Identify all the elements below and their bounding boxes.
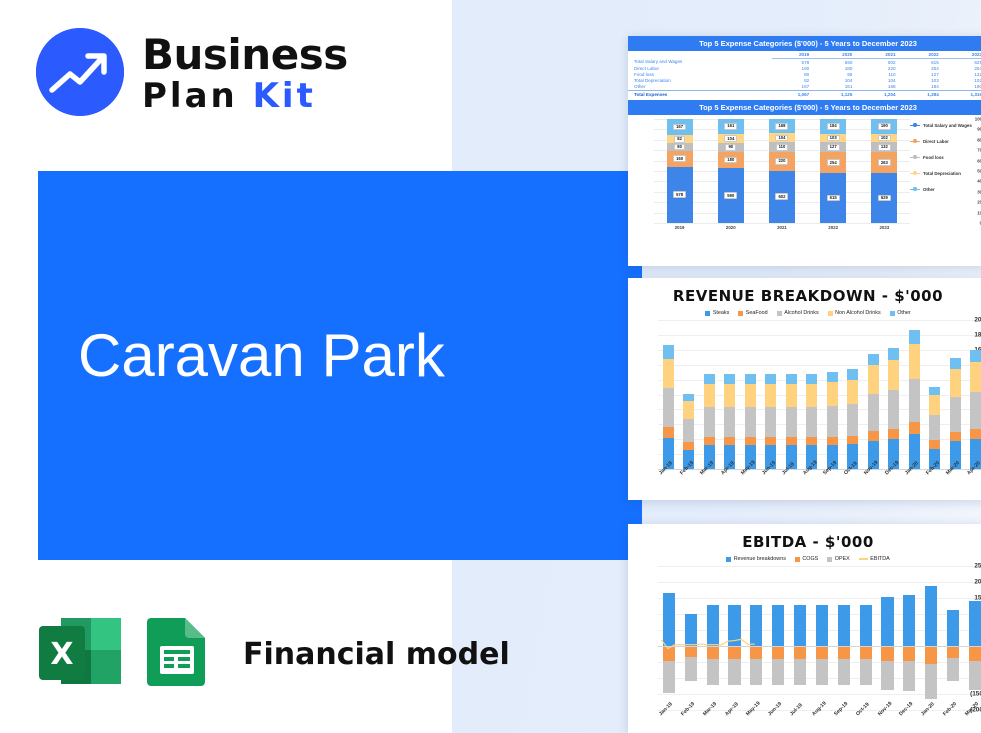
bar-segment — [868, 394, 879, 431]
table-cell: 184 — [902, 84, 945, 91]
revenue-breakdown-card: REVENUE BREAKDOWN - $'000 SteaksSeaFoodA… — [628, 278, 981, 500]
gridline — [654, 223, 910, 224]
bar-segment — [685, 657, 697, 681]
bar-segment — [881, 597, 893, 646]
bar-stack — [765, 374, 776, 469]
page-title: Caravan Park — [78, 321, 445, 390]
bar-segment — [970, 429, 981, 439]
x-axis-labels: 20192020202120222023 — [654, 225, 910, 230]
row-label: Total Expenses — [628, 90, 772, 97]
table-col-2023: 2023 — [945, 51, 981, 59]
bar-segment — [704, 384, 715, 407]
y-axis-tick: 100% — [975, 116, 981, 121]
bar-segment — [663, 388, 674, 427]
legend-item: EBITDA — [859, 556, 890, 562]
format-label: Financial model — [243, 637, 510, 672]
bar-segment — [827, 437, 838, 445]
bar-column — [964, 566, 981, 710]
table-cell: 590 — [815, 59, 858, 66]
bar-segment — [683, 401, 694, 419]
bar-column — [855, 566, 877, 710]
expense-table-band-title: Top 5 Expense Categories ($'000) - 5 Yea… — [628, 36, 981, 51]
bar-segment — [925, 664, 937, 699]
bar-segment: 254 — [820, 152, 846, 173]
bar-stack — [704, 374, 715, 469]
expense-chart-band-title: Top 5 Expense Categories ($'000) - 5 Yea… — [628, 100, 981, 115]
bar-segment — [765, 437, 776, 445]
bar-segment — [786, 437, 797, 445]
table-row: Other167161168184190 — [628, 84, 981, 91]
bar-column — [720, 320, 741, 469]
legend-label: OPEX — [835, 556, 850, 562]
bar-value-label: 127 — [827, 144, 840, 151]
bar-segment — [765, 374, 776, 384]
legend-swatch — [705, 311, 710, 316]
bar-column — [702, 566, 724, 710]
bar-column: 1678280160578 — [667, 119, 693, 223]
table-col-label — [628, 51, 772, 59]
bar-segment — [683, 442, 694, 450]
table-col-2020: 2020 — [815, 51, 858, 59]
x-axis-tick: 2023 — [871, 225, 897, 230]
legend-swatch — [738, 311, 743, 316]
bar-stack — [950, 358, 961, 469]
x-axis-labels: Jan-19Feb-19Mar-19Apr-19May-19Jun-19Jul-… — [658, 472, 981, 478]
bar-segment: 167 — [667, 119, 693, 135]
bar-segment — [881, 661, 893, 690]
bar-segment — [794, 659, 806, 685]
bar-column — [904, 320, 925, 469]
axis-line — [658, 646, 981, 647]
bar-segment — [806, 384, 817, 407]
bar-segment: 90 — [718, 143, 744, 151]
legend-item: SeaFood — [738, 310, 767, 316]
microsoft-excel-icon: X — [37, 616, 123, 693]
bar-stack — [909, 330, 920, 469]
bar-segment: 590 — [718, 168, 744, 223]
brand-name-line1: Business — [142, 34, 348, 76]
legend-label: Revenue breakdowns — [734, 556, 786, 562]
format-badges: X Financial model — [37, 616, 510, 693]
bar-segment — [806, 374, 817, 384]
bar-segment: 132 — [871, 142, 897, 152]
legend-label: Total Depreciation — [923, 171, 961, 176]
bar-segment — [838, 605, 850, 646]
table-row: Total Salary and Wages578590602615629 — [628, 59, 981, 66]
growth-arrow-icon — [36, 28, 124, 116]
bar-stack — [806, 374, 817, 469]
bar-value-label: 184 — [827, 123, 840, 130]
bar-value-label: 578 — [673, 191, 686, 198]
bar-segment — [929, 387, 940, 395]
bar-segment — [786, 407, 797, 437]
bar-segment — [724, 384, 735, 407]
legend-swatch — [890, 311, 895, 316]
table-cell: 629 — [945, 59, 981, 66]
bar-segment: 110 — [769, 142, 795, 152]
bar-value-label: 90 — [725, 144, 736, 151]
bar-segment: 103 — [820, 134, 846, 142]
bar-column — [884, 320, 905, 469]
bar-value-label: 190 — [878, 123, 891, 130]
table-col-2021: 2021 — [858, 51, 901, 59]
bar-column — [877, 566, 899, 710]
bar-segment — [947, 646, 959, 658]
bar-segment — [838, 646, 850, 659]
bar-segment — [868, 354, 879, 365]
legend-item: Direct Labor — [910, 139, 981, 144]
bar-segment — [950, 369, 961, 397]
bar-segment — [950, 432, 961, 442]
table-cell: 602 — [858, 59, 901, 66]
bar-segment — [707, 659, 719, 685]
bar-segment — [786, 374, 797, 384]
bar-stack — [847, 369, 858, 469]
bar-stack — [745, 374, 756, 469]
table-cell: 1,125 — [815, 90, 858, 97]
bar-column: 190102132263629 — [871, 119, 897, 223]
bar-segment — [816, 659, 828, 685]
bar-segment — [847, 436, 858, 444]
bar-value-label: 615 — [827, 195, 840, 202]
table-header-row: 20192020202120222023 — [628, 51, 981, 59]
bar-value-label: 110 — [776, 144, 789, 151]
bar-value-label: 180 — [724, 157, 737, 164]
bar-segment — [704, 437, 715, 445]
bar-segment — [970, 392, 981, 429]
bar-column — [942, 566, 964, 710]
bar-value-label: 160 — [673, 155, 686, 162]
brand-logo: Business Plan Kit — [36, 28, 348, 116]
brand-name-line2: Plan Kit — [142, 79, 348, 113]
bar-stack — [868, 354, 879, 469]
bar-stack — [663, 345, 674, 469]
bar-segment — [685, 614, 697, 646]
legend-label: Non Alcohol Drinks — [835, 310, 881, 316]
bar-segment — [947, 610, 959, 646]
table-total-row: Total Expenses1,0671,1251,2041,2841,316 — [628, 90, 981, 97]
bar-segment — [969, 646, 981, 661]
bar-column: 16110490180590 — [718, 119, 744, 223]
bar-value-label: 168 — [775, 123, 788, 130]
bar-segment — [707, 605, 719, 646]
expense-categories-card: Top 5 Expense Categories ($'000) - 5 Yea… — [628, 36, 981, 266]
bar-segment: 102 — [871, 134, 897, 142]
bar-segment: 127 — [820, 142, 846, 152]
bar-value-label: 590 — [724, 192, 737, 199]
bar-column — [680, 566, 702, 710]
legend-swatch — [726, 557, 731, 562]
row-label: Other — [628, 84, 772, 91]
bar-segment: 629 — [871, 173, 897, 223]
brand-plan-text: Plan — [142, 76, 238, 116]
bar-value-label: 263 — [878, 159, 891, 166]
bar-column: 168104110220602 — [769, 119, 795, 223]
table-cell: 161 — [815, 84, 858, 91]
svg-text:X: X — [50, 637, 73, 672]
plot-area: 1678280160578161104901805901681041102206… — [654, 119, 910, 223]
bar-segment — [868, 365, 879, 393]
legend-label: Steaks — [713, 310, 729, 316]
bar-segment — [816, 605, 828, 646]
bar-segment — [724, 374, 735, 384]
bar-segment — [950, 397, 961, 432]
bar-segment — [909, 379, 920, 422]
legend-item: Alcohol Drinks — [777, 310, 819, 316]
bar-value-label: 104 — [724, 135, 737, 142]
bar-segment — [772, 605, 784, 646]
bar-column — [898, 566, 920, 710]
legend-label: COGS — [802, 556, 818, 562]
legend-label: Alcohol Drinks — [784, 310, 818, 316]
legend-item: Total Depreciation — [910, 171, 981, 176]
bar-segment: 220 — [769, 152, 795, 171]
bar-segment: 168 — [769, 119, 795, 134]
table-cell: 615 — [902, 59, 945, 66]
bar-segment — [663, 345, 674, 358]
bar-segment: 104 — [769, 133, 795, 142]
legend-swatch — [828, 311, 833, 316]
bar-segment — [860, 646, 872, 659]
bar-segment — [969, 601, 981, 646]
bar-segment: 578 — [667, 167, 693, 223]
bar-segment — [806, 437, 817, 445]
bar-value-label: 80 — [674, 144, 685, 151]
revenue-chart-legend: SteaksSeaFoodAlcohol DrinksNon Alcohol D… — [628, 310, 981, 316]
legend-swatch — [910, 141, 920, 143]
bar-segment — [827, 406, 838, 437]
bar-segment — [925, 586, 937, 646]
row-label: Total Salary and Wages — [628, 59, 772, 66]
bar-segment — [786, 384, 797, 407]
bar-segment: 104 — [718, 134, 744, 144]
bar-column — [767, 566, 789, 710]
bar-segment — [750, 646, 762, 659]
plot-area — [658, 320, 981, 469]
bar-segment — [860, 605, 872, 646]
bar-segment — [909, 330, 920, 344]
bar-value-label: 220 — [775, 158, 788, 165]
bar-segment — [806, 407, 817, 437]
bar-stack — [724, 374, 735, 469]
bar-segment — [728, 605, 740, 646]
bar-segment — [704, 407, 715, 437]
table-cell: 190 — [945, 84, 981, 91]
bar-segment — [728, 659, 740, 685]
bar-segment: 190 — [871, 119, 897, 134]
bar-segment — [970, 350, 981, 362]
x-axis-labels: Jan-19Feb-19Mar-19Apr-19May-19Jun-19Jul-… — [658, 713, 981, 719]
bar-segment: 615 — [820, 173, 846, 223]
bar-segment: 160 — [667, 151, 693, 167]
bar-value-label: 102 — [878, 135, 891, 142]
bar-column — [945, 320, 966, 469]
bar-column — [761, 320, 782, 469]
bar-segment — [929, 440, 940, 449]
bar-column — [863, 320, 884, 469]
legend-swatch — [910, 173, 920, 175]
legend-swatch — [795, 557, 800, 562]
bar-segment — [909, 344, 920, 379]
table-cell: 1,204 — [858, 90, 901, 97]
bar-segment — [847, 404, 858, 436]
bar-value-label: 103 — [827, 135, 840, 142]
bar-segment — [728, 646, 740, 659]
bar-segment — [772, 659, 784, 685]
bar-segment: 161 — [718, 119, 744, 134]
bar-segment — [765, 384, 776, 407]
bar-segment — [868, 431, 879, 441]
bar-segment: 184 — [820, 119, 846, 134]
bar-column — [925, 320, 946, 469]
ebitda-chart-title: EBITDA - $'000 — [628, 533, 981, 551]
bar-column — [966, 320, 981, 469]
table-cell: 1,316 — [945, 90, 981, 97]
bar-segment — [772, 646, 784, 659]
bar-segment — [794, 646, 806, 659]
bar-stack — [827, 372, 838, 469]
bar-segment — [950, 358, 961, 369]
bar-segment — [929, 415, 940, 440]
bar-segment — [745, 384, 756, 407]
bar-segment — [663, 593, 675, 646]
bar-segment — [881, 646, 893, 661]
bar-column — [781, 320, 802, 469]
bar-column — [811, 566, 833, 710]
bar-column — [789, 566, 811, 710]
bar-segment: 80 — [667, 143, 693, 151]
bar-segment: 180 — [718, 152, 744, 169]
bar-column — [833, 566, 855, 710]
legend-label: Other — [897, 310, 910, 316]
bar-value-label: 82 — [674, 136, 685, 143]
legend-item: Other — [910, 187, 981, 192]
legend-label: Food loss — [923, 155, 944, 160]
table-col-2022: 2022 — [902, 51, 945, 59]
bar-column — [843, 320, 864, 469]
bar-column: 184103127254615 — [820, 119, 846, 223]
bar-segment — [750, 605, 762, 646]
legend-label: Other — [923, 187, 935, 192]
bar-segment — [903, 661, 915, 691]
revenue-chart-title: REVENUE BREAKDOWN - $'000 — [628, 287, 981, 305]
bar-segment — [745, 407, 756, 437]
bar-column — [724, 566, 746, 710]
bar-segment — [888, 429, 899, 439]
x-axis-tick: 2020 — [718, 225, 744, 230]
legend-item: Steaks — [705, 310, 729, 316]
bar-segment — [816, 646, 828, 659]
bar-segment — [794, 605, 806, 646]
bar-segment — [663, 359, 674, 388]
bar-segment — [707, 646, 719, 659]
bar-segment — [663, 661, 675, 693]
bar-segment — [970, 362, 981, 392]
bar-segment — [663, 427, 674, 439]
bar-segment — [860, 659, 872, 685]
expense-table: 20192020202120222023 Total Salary and Wa… — [628, 51, 981, 98]
bar-segment: 602 — [769, 171, 795, 223]
y-axis-tick: 10% — [977, 210, 981, 215]
hero-block: Caravan Park — [38, 171, 642, 560]
bar-segment: 82 — [667, 135, 693, 143]
plot-area — [658, 566, 981, 710]
revenue-chart-plot: 20018016014012010080604020-Jan-19Feb-19M… — [628, 320, 981, 495]
brand-kit-text: Kit — [253, 76, 316, 116]
bar-segment — [724, 407, 735, 437]
bar-column — [699, 320, 720, 469]
legend-swatch — [910, 125, 920, 127]
legend-swatch — [910, 157, 920, 159]
bar-segment — [745, 374, 756, 384]
legend-swatch — [910, 189, 920, 191]
bar-segment — [704, 374, 715, 384]
bar-segment — [847, 369, 858, 379]
bar-segment — [683, 394, 694, 401]
bar-segment — [909, 422, 920, 434]
bar-segment — [724, 437, 735, 445]
legend-swatch — [777, 311, 782, 316]
bar-segment — [888, 348, 899, 360]
legend-swatch — [827, 557, 832, 562]
table-cell: 168 — [858, 84, 901, 91]
legend-item: Revenue breakdowns — [726, 556, 786, 562]
expense-stacked-percent-chart: 100%90%80%70%60%50%40%30%20%10%0%1678280… — [628, 115, 981, 237]
legend-item: OPEX — [827, 556, 849, 562]
bar-segment — [685, 646, 697, 657]
legend-item: Total Salary and Wages — [910, 123, 981, 128]
bar-column — [745, 566, 767, 710]
legend-swatch — [859, 558, 868, 560]
bar-segment — [903, 595, 915, 646]
bar-segment — [888, 360, 899, 390]
table-cell: 1,067 — [772, 90, 815, 97]
bar-segment — [750, 659, 762, 685]
table-col-2019: 2019 — [772, 51, 815, 59]
bar-value-label: 132 — [878, 144, 891, 151]
x-axis-tick: 2022 — [820, 225, 846, 230]
legend-item: Food loss — [910, 155, 981, 160]
bar-segment — [903, 646, 915, 661]
bar-segment: 263 — [871, 152, 897, 173]
ebitda-chart-legend: Revenue breakdownsCOGSOPEXEBITDA — [628, 556, 981, 562]
bar-segment — [929, 395, 940, 415]
bar-stack — [786, 374, 797, 469]
bar-column — [658, 320, 679, 469]
bar-column — [802, 320, 823, 469]
legend-label: SeaFood — [746, 310, 768, 316]
bar-segment — [745, 437, 756, 445]
legend-item: COGS — [795, 556, 818, 562]
ebitda-card: EBITDA - $'000 Revenue breakdownsCOGSOPE… — [628, 524, 981, 733]
bar-value-label: 254 — [827, 159, 840, 166]
legend-label: Direct Labor — [923, 139, 949, 144]
bar-value-label: 167 — [673, 124, 686, 131]
table-cell: 578 — [772, 59, 815, 66]
legend-label: Total Salary and Wages — [923, 123, 972, 128]
bar-column — [679, 320, 700, 469]
ebitda-chart-plot: 25020015010050-(50)(100)(150)(200)Jan-19… — [628, 566, 981, 733]
legend-item: Other — [890, 310, 911, 316]
bar-column — [658, 566, 680, 710]
bar-column — [920, 566, 942, 710]
legend-label: EBITDA — [870, 556, 889, 562]
bar-column — [822, 320, 843, 469]
bar-column — [740, 320, 761, 469]
bar-stack — [888, 348, 899, 469]
bar-segment — [847, 380, 858, 405]
bar-value-label: 629 — [878, 195, 891, 202]
